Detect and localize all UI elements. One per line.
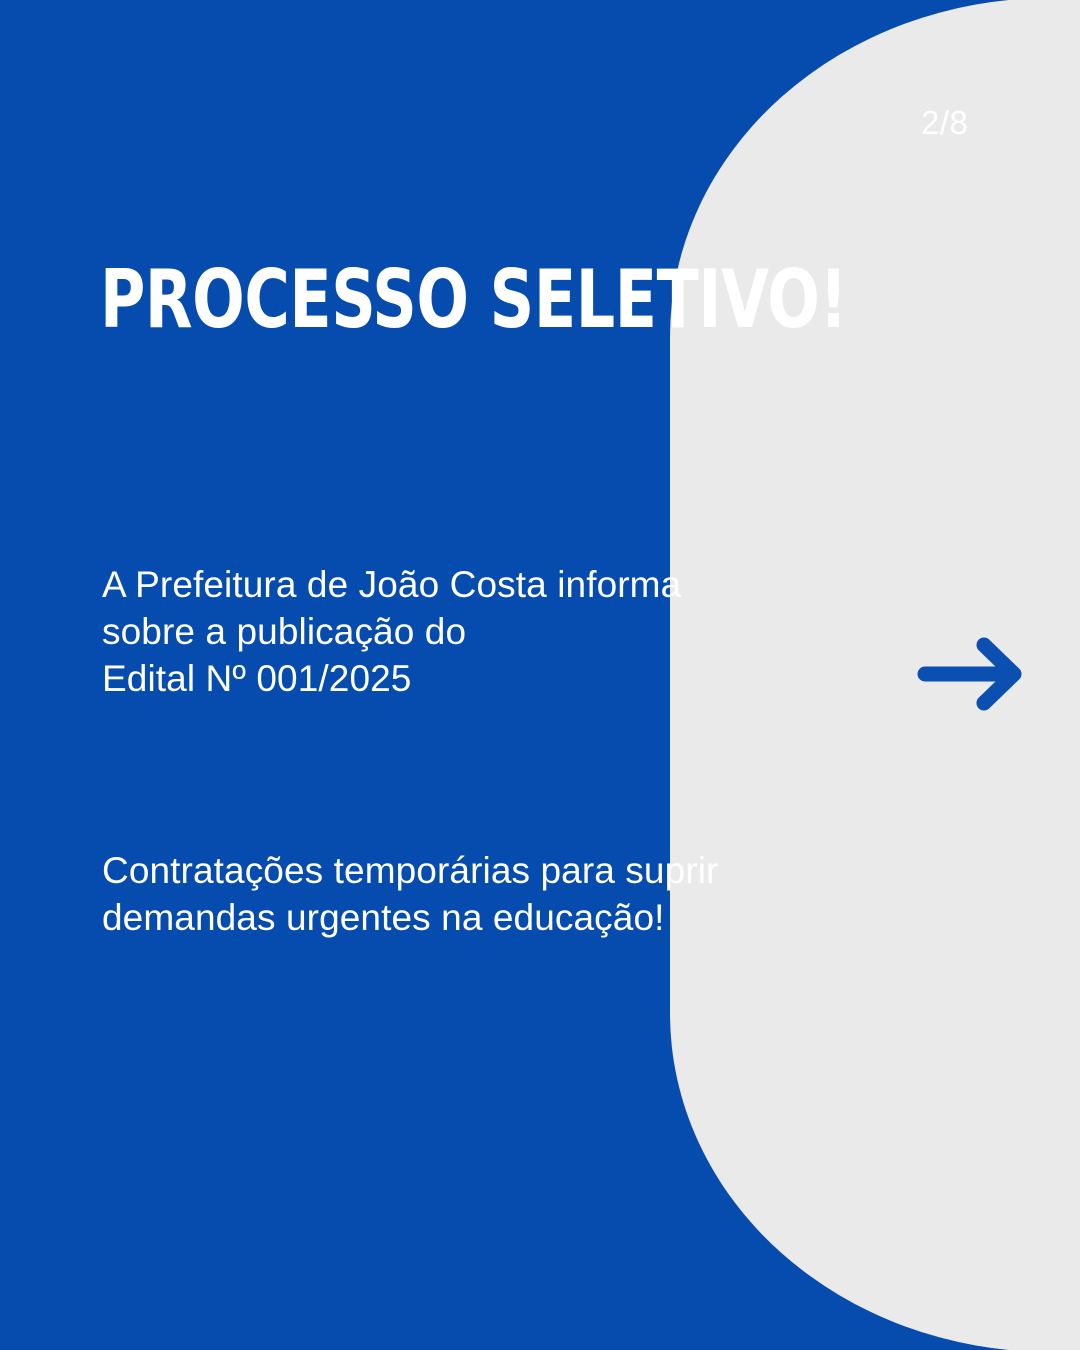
page-counter: 2/8 bbox=[921, 106, 968, 139]
page-title: PROCESSO SELETIVO! bbox=[100, 262, 847, 338]
next-slide-button[interactable] bbox=[916, 636, 1028, 712]
intro-paragraph: A Prefeitura de João Costa informa sobre… bbox=[102, 561, 681, 702]
arrow-right-icon bbox=[916, 636, 1028, 712]
slide-canvas: 2/8 PROCESSO SELETIVO! A Prefeitura de J… bbox=[0, 0, 1080, 1350]
detail-paragraph: Contratações temporárias para suprir dem… bbox=[102, 847, 718, 941]
